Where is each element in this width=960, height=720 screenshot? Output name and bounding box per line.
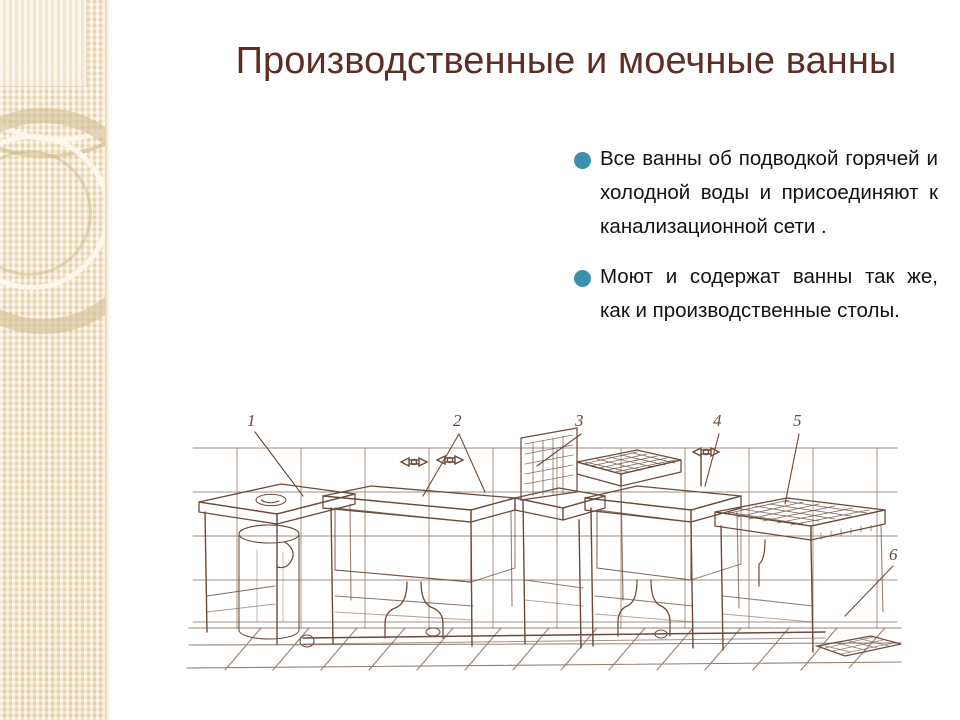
figure-callout-1: 1 [247, 411, 256, 430]
side-band-edge [105, 0, 110, 720]
list-item: Все ванны об подводкой горячей и холодно… [572, 142, 938, 244]
figure-callout-4: 4 [713, 411, 722, 430]
figure-callout-6: 6 [889, 545, 898, 564]
bullet-dot-icon [574, 152, 591, 169]
bullet-list: Все ванны об подводкой горячей и холодно… [572, 142, 938, 328]
figure-washing-baths: 1 2 3 4 5 6 [185, 400, 905, 685]
slide-root: Производственные и моечные ванны Все ван… [0, 0, 960, 720]
decorative-side-band [0, 0, 110, 720]
figure-callout-2: 2 [453, 411, 462, 430]
page-title: Производственные и моечные ванны [190, 38, 942, 84]
list-item-text: Все ванны об подводкой горячей и холодно… [600, 142, 938, 244]
figure-callout-3: 3 [574, 411, 584, 430]
figure-drawing: 1 2 3 4 5 6 [185, 400, 905, 685]
list-item: Моют и содержат ванны так же, как и прои… [572, 260, 938, 328]
list-item-text: Моют и содержат ванны так же, как и прои… [600, 260, 938, 328]
figure-callout-5: 5 [793, 411, 802, 430]
bullet-dot-icon [574, 270, 591, 287]
